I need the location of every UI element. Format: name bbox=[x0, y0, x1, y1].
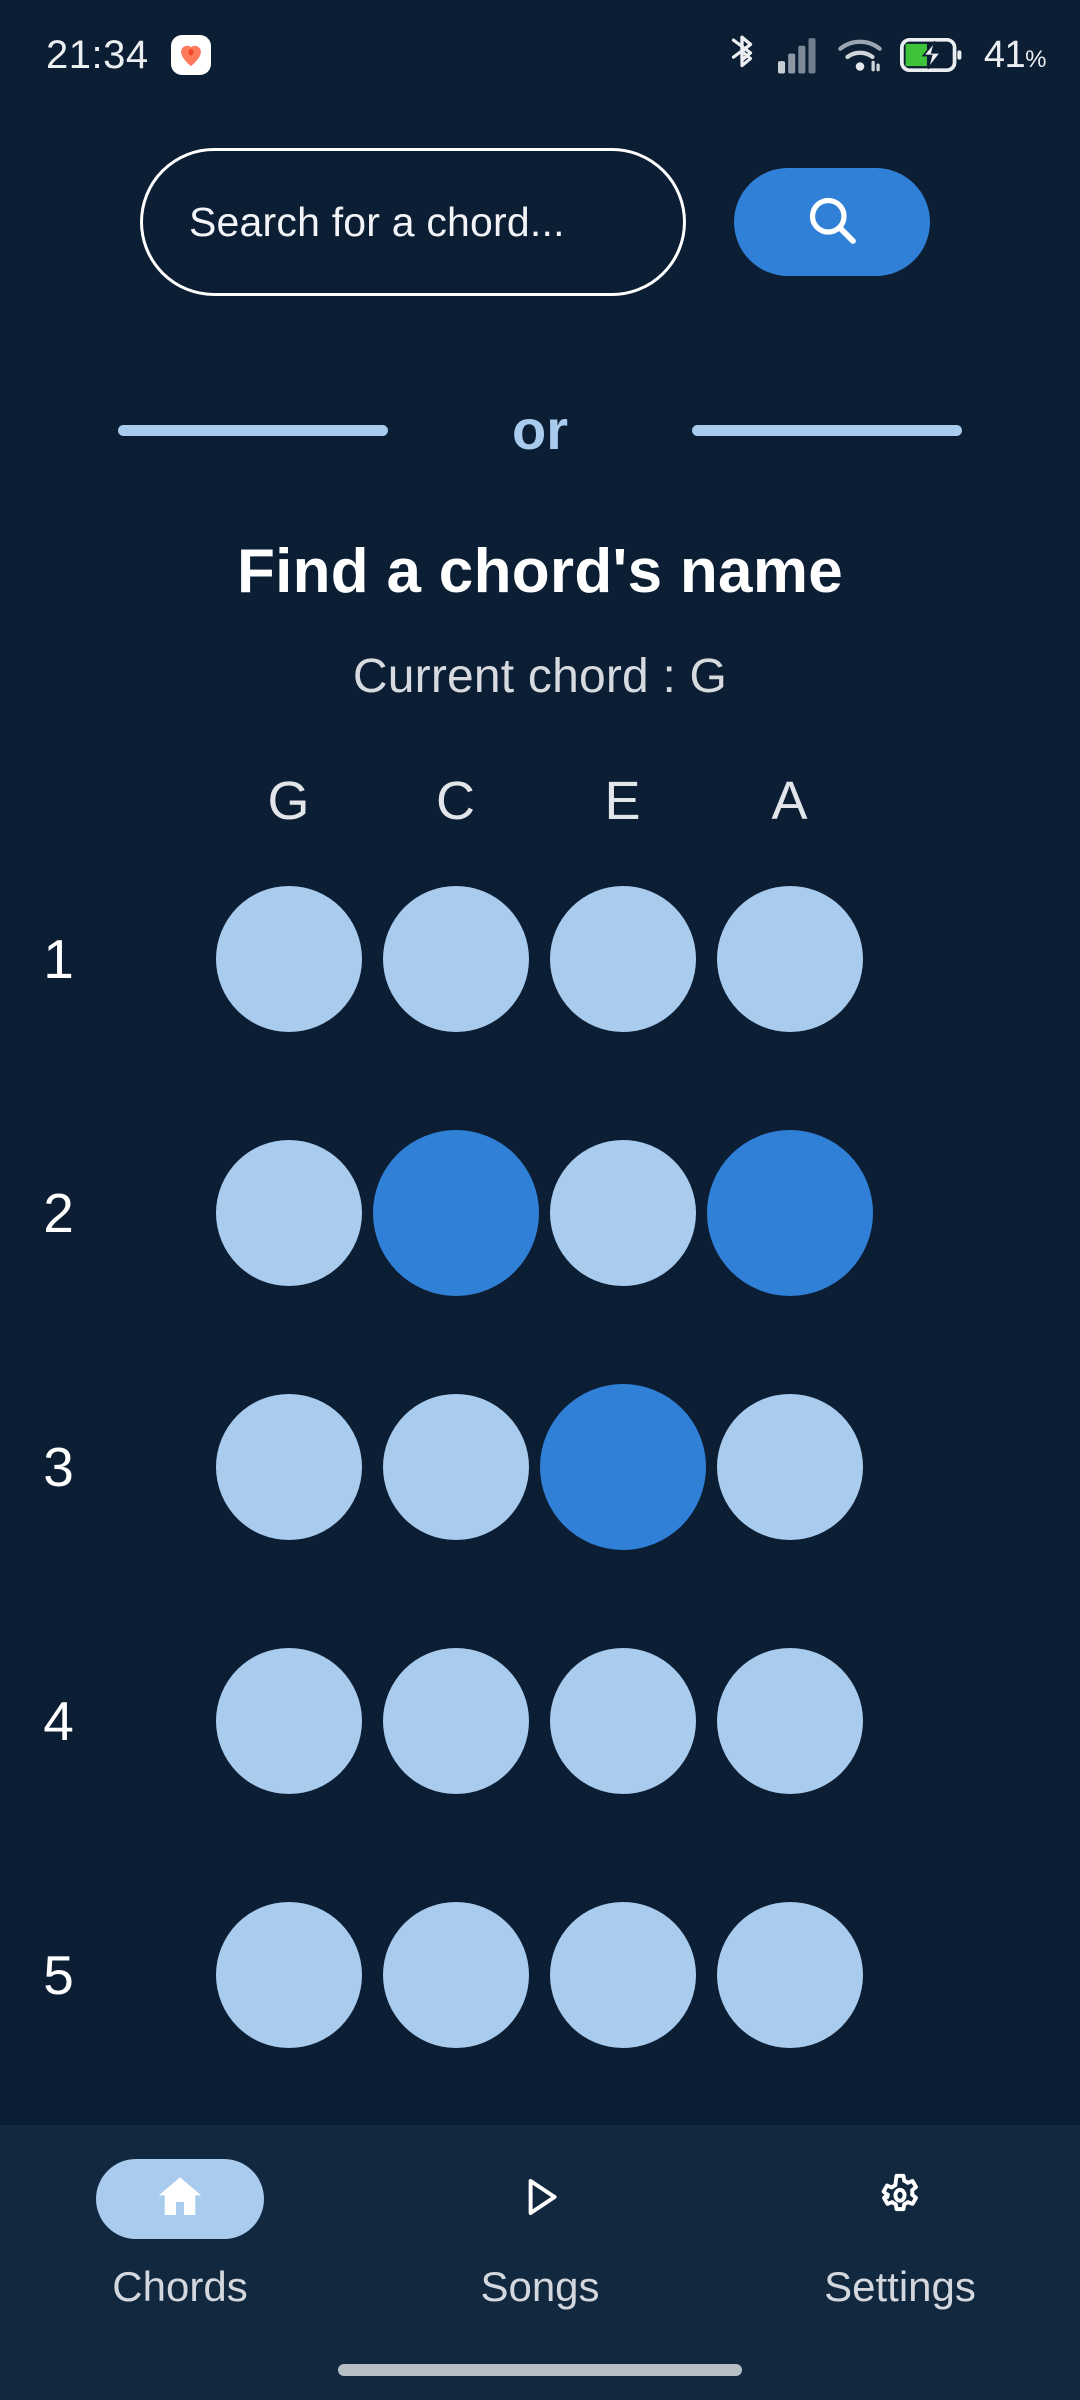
fret-dot-E-5[interactable] bbox=[550, 1902, 696, 2048]
nav-item-songs[interactable]: Songs bbox=[390, 2159, 690, 2311]
fret-cell bbox=[706, 1130, 873, 1296]
fret-dot-A-5[interactable] bbox=[717, 1902, 863, 2048]
string-label-2: E bbox=[539, 770, 706, 832]
fret-cell bbox=[205, 886, 372, 1032]
string-label-0: G bbox=[205, 770, 372, 832]
fret-cell bbox=[706, 1648, 873, 1794]
status-bar-clock: 21:34 bbox=[46, 33, 149, 78]
string-label-3: A bbox=[706, 770, 873, 832]
fret-dot-C-2[interactable] bbox=[373, 1130, 539, 1296]
fret-row: 4 bbox=[0, 1594, 1080, 1848]
page-title: Find a chord's name bbox=[0, 536, 1080, 607]
fret-dot-G-1[interactable] bbox=[216, 886, 362, 1032]
fret-cell bbox=[372, 1902, 539, 2048]
gear-icon bbox=[874, 2171, 926, 2228]
fret-dot-A-2[interactable] bbox=[707, 1130, 873, 1296]
fret-dot-A-1[interactable] bbox=[717, 886, 863, 1032]
search-input-placeholder: Search for a chord... bbox=[189, 199, 565, 246]
fret-dot-E-1[interactable] bbox=[550, 886, 696, 1032]
status-bar: 21:34 bbox=[0, 0, 1080, 110]
fret-number-3: 3 bbox=[0, 1435, 205, 1499]
status-bar-icons: 41% bbox=[725, 33, 1046, 77]
string-header-row: G C E A bbox=[0, 704, 1080, 832]
fret-cell bbox=[205, 1648, 372, 1794]
current-chord-label: Current chord : G bbox=[0, 649, 1080, 704]
fret-number-1: 1 bbox=[0, 927, 205, 991]
nav-songs-pill bbox=[456, 2159, 624, 2239]
wifi-icon bbox=[837, 35, 883, 75]
nav-label-settings: Settings bbox=[824, 2263, 976, 2311]
home-icon bbox=[153, 2170, 207, 2229]
fret-number-4: 4 bbox=[0, 1689, 205, 1753]
bottom-navigation: Chords Songs Settin bbox=[0, 2125, 1080, 2400]
fret-dot-C-1[interactable] bbox=[383, 886, 529, 1032]
string-label-1: C bbox=[372, 770, 539, 832]
nav-item-settings[interactable]: Settings bbox=[750, 2159, 1050, 2311]
fret-rows: 12345 bbox=[0, 832, 1080, 2102]
divider-line-left bbox=[118, 425, 388, 436]
fret-row: 1 bbox=[0, 832, 1080, 1086]
fret-cell bbox=[706, 1394, 873, 1540]
fret-dot-E-4[interactable] bbox=[550, 1648, 696, 1794]
headings: Find a chord's name Current chord : G bbox=[0, 458, 1080, 704]
fret-dot-E-3[interactable] bbox=[540, 1384, 706, 1550]
home-indicator[interactable] bbox=[338, 2364, 742, 2376]
fret-cell bbox=[706, 1902, 873, 2048]
nav-label-songs: Songs bbox=[480, 2263, 599, 2311]
app-root: 21:34 bbox=[0, 0, 1080, 2400]
fret-dot-C-3[interactable] bbox=[383, 1394, 529, 1540]
signal-icon bbox=[776, 35, 820, 75]
fret-cell bbox=[539, 886, 706, 1032]
heart-app-icon bbox=[171, 35, 211, 75]
fret-cell bbox=[372, 1130, 539, 1296]
fret-cell bbox=[372, 1394, 539, 1540]
nav-label-chords: Chords bbox=[112, 2263, 247, 2311]
nav-item-chords[interactable]: Chords bbox=[30, 2159, 330, 2311]
fret-number-2: 2 bbox=[0, 1181, 205, 1245]
bluetooth-icon bbox=[725, 33, 759, 77]
fret-cell bbox=[706, 886, 873, 1032]
search-row: Search for a chord... bbox=[0, 110, 1080, 296]
play-icon bbox=[515, 2172, 565, 2227]
fret-dot-G-5[interactable] bbox=[216, 1902, 362, 2048]
search-icon bbox=[802, 190, 862, 255]
fret-cell bbox=[205, 1140, 372, 1286]
nav-chords-pill bbox=[96, 2159, 264, 2239]
search-input[interactable]: Search for a chord... bbox=[140, 148, 686, 296]
search-button[interactable] bbox=[734, 168, 930, 276]
divider-label: or bbox=[388, 402, 692, 458]
fret-cell bbox=[372, 1648, 539, 1794]
fret-dot-C-4[interactable] bbox=[383, 1648, 529, 1794]
fret-row: 2 bbox=[0, 1086, 1080, 1340]
fret-dot-G-4[interactable] bbox=[216, 1648, 362, 1794]
fret-dot-G-2[interactable] bbox=[216, 1140, 362, 1286]
fret-dot-E-2[interactable] bbox=[550, 1140, 696, 1286]
fret-cell bbox=[372, 886, 539, 1032]
or-divider: or bbox=[0, 296, 1080, 458]
fret-dot-A-3[interactable] bbox=[717, 1394, 863, 1540]
fret-cell bbox=[539, 1648, 706, 1794]
battery-charging-icon bbox=[900, 37, 962, 73]
string-header-spacer bbox=[0, 770, 205, 832]
fret-dot-A-4[interactable] bbox=[717, 1648, 863, 1794]
fret-row: 3 bbox=[0, 1340, 1080, 1594]
fret-cell bbox=[539, 1140, 706, 1286]
fret-row: 5 bbox=[0, 1848, 1080, 2102]
fret-cell bbox=[539, 1384, 706, 1550]
divider-line-right bbox=[692, 425, 962, 436]
battery-percent: 41% bbox=[984, 34, 1046, 77]
nav-settings-pill bbox=[816, 2159, 984, 2239]
fret-cell bbox=[205, 1394, 372, 1540]
fret-dot-C-5[interactable] bbox=[383, 1902, 529, 2048]
fret-number-5: 5 bbox=[0, 1943, 205, 2007]
fret-cell bbox=[205, 1902, 372, 2048]
fret-cell bbox=[539, 1902, 706, 2048]
fret-dot-G-3[interactable] bbox=[216, 1394, 362, 1540]
